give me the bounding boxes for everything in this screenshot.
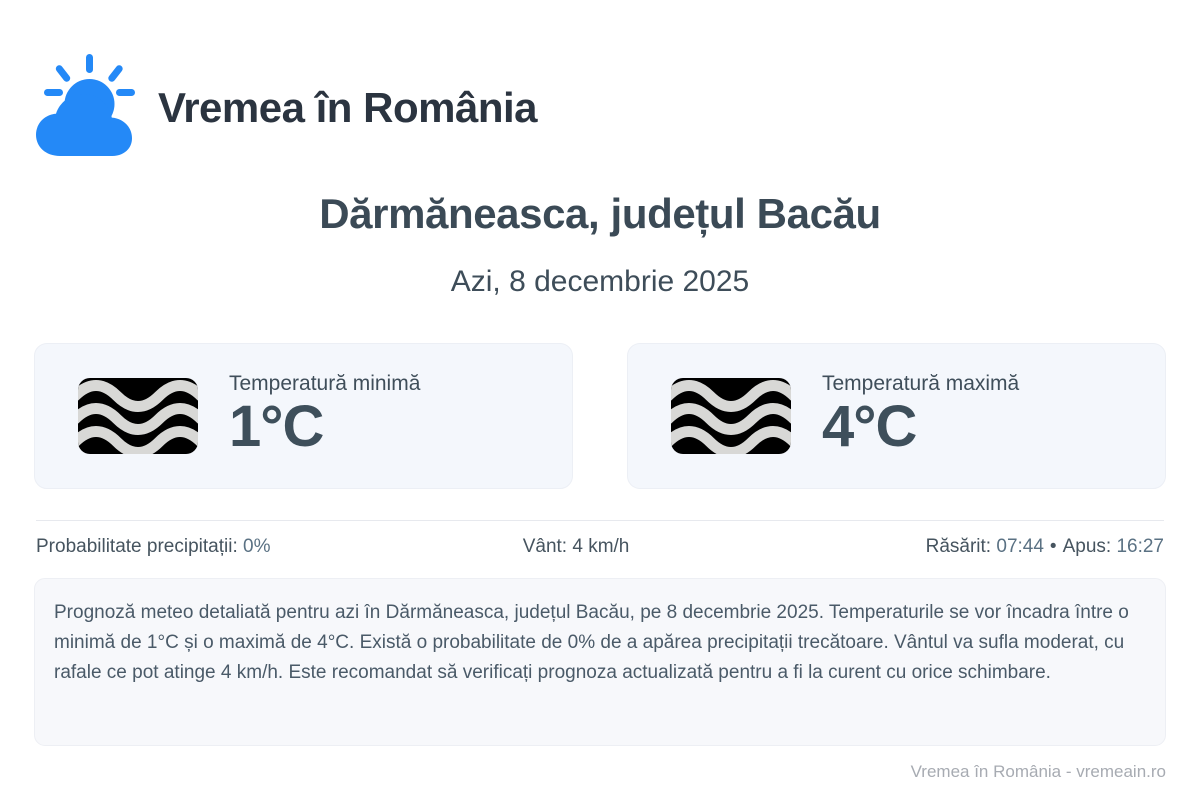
footer-credit: Vremea în România - vremeain.ro: [911, 762, 1166, 782]
weather-stats-row: Probabilitate precipitații: 0% Vânt: 4 k…: [36, 536, 1164, 558]
sunrise-value: 07:44: [996, 536, 1044, 557]
fog-waves-icon: [73, 375, 203, 457]
page-subtitle: Azi, 8 decembrie 2025: [0, 265, 1200, 299]
wind-stat: Vânt: 4 km/h: [270, 536, 925, 558]
brand-name: Vremea în România: [158, 85, 537, 130]
max-temperature-card: Temperatură maximă 4°C: [627, 343, 1166, 489]
max-temperature-label: Temperatură maximă: [822, 372, 1019, 395]
min-temperature-card: Temperatură minimă 1°C: [34, 343, 573, 489]
site-brand[interactable]: Vremea în România: [34, 50, 537, 165]
forecast-description-panel: Prognoză meteo detaliată pentru azi în D…: [34, 578, 1166, 746]
sun-times-separator: •: [1044, 536, 1063, 557]
stats-divider: [36, 520, 1164, 521]
min-temperature-value: 1°C: [229, 397, 420, 458]
max-temperature-value: 4°C: [822, 397, 1019, 458]
max-temperature-body: Temperatură maximă 4°C: [822, 372, 1019, 458]
fog-waves-icon: [666, 375, 796, 457]
min-temperature-label: Temperatură minimă: [229, 372, 420, 395]
forecast-description-text: Prognoză meteo detaliată pentru azi în D…: [54, 598, 1141, 688]
sunrise-label: Răsărit:: [926, 536, 997, 557]
sunset-label: Apus:: [1063, 536, 1117, 557]
sunset-value: 16:27: [1116, 536, 1164, 557]
sun-times-stat: Răsărit: 07:44•Apus: 16:27: [926, 536, 1164, 558]
precipitation-label: Probabilitate precipitații:: [36, 536, 243, 557]
temperature-cards: Temperatură minimă 1°C Temperatură maxim…: [34, 343, 1166, 489]
page-title: Dărmăneasca, județul Bacău: [0, 190, 1200, 238]
precipitation-stat: Probabilitate precipitații: 0%: [36, 536, 270, 558]
precipitation-value: 0%: [243, 536, 270, 557]
min-temperature-body: Temperatură minimă 1°C: [229, 372, 420, 458]
sun-behind-cloud-icon: [34, 52, 144, 164]
